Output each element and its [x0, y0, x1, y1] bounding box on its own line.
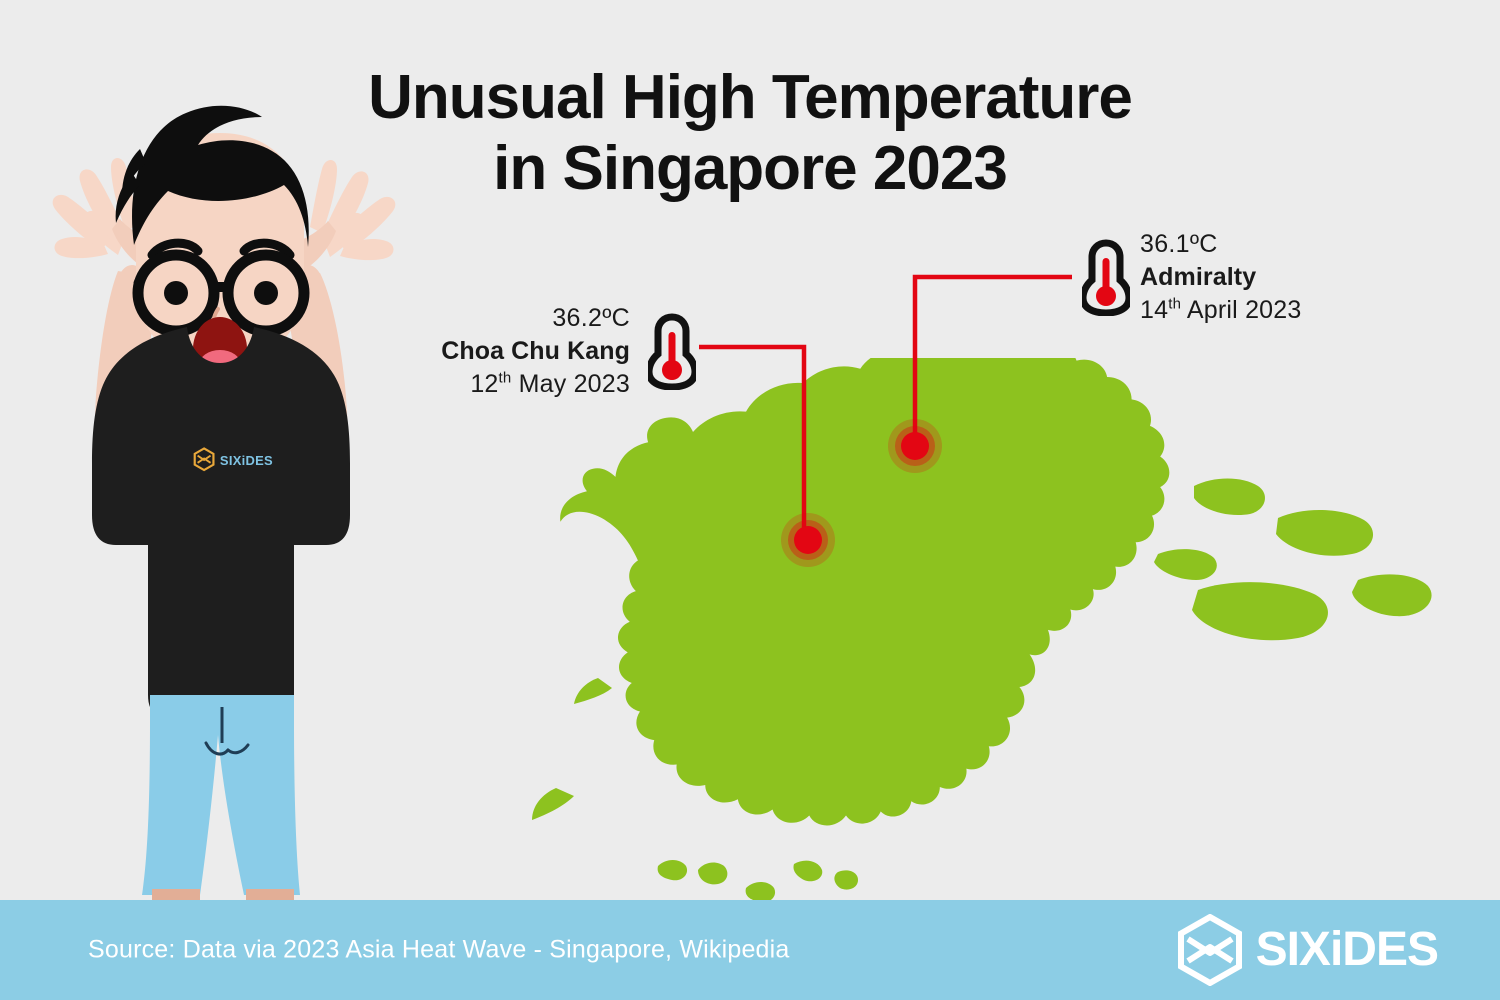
date-ordinal: th: [499, 369, 512, 386]
brand-main: SIX: [1256, 923, 1330, 976]
date-rest: April 2023: [1181, 296, 1301, 324]
date-day: 14: [1140, 296, 1168, 324]
annotation-temperature: 36.1ºC: [1140, 228, 1400, 261]
annotation-admiralty: 36.1ºC Admiralty 14th April 2023: [1140, 228, 1400, 326]
annotation-date: 14th April 2023: [1140, 294, 1400, 327]
annotation-place: Admiralty: [1140, 261, 1400, 294]
annotation-place: Choa Chu Kang: [330, 335, 630, 368]
annotation-temperature: 36.2ºC: [330, 302, 630, 335]
title-line-1: Unusual High Temperature: [368, 63, 1132, 132]
svg-text:SIXiDES: SIXiDES: [220, 453, 273, 468]
thermometer-icon: [648, 312, 696, 390]
hexagon-logo-icon: [1177, 914, 1243, 986]
brand-low: i: [1330, 923, 1342, 976]
footer-source-text: Source: Data via 2023 Asia Heat Wave - S…: [88, 936, 790, 965]
annotation-date: 12th May 2023: [330, 368, 630, 401]
infographic-canvas: Unusual High Temperature in Singapore 20…: [0, 0, 1500, 1000]
singapore-map: [498, 358, 1438, 903]
date-ordinal: th: [1168, 295, 1181, 312]
footer-brand-logo[interactable]: SIXiDES: [1177, 914, 1438, 986]
jeans: [142, 695, 300, 895]
tshirt: SIXiDES: [92, 327, 350, 723]
footer-bar: Source: Data via 2023 Asia Heat Wave - S…: [0, 900, 1500, 1000]
annotation-choa-chu-kang: 36.2ºC Choa Chu Kang 12th May 2023: [330, 302, 630, 400]
brand-end: DES: [1342, 923, 1438, 976]
map-landmass: [532, 358, 1432, 902]
thermometer-icon: [1082, 238, 1130, 316]
brand-wordmark: SIXiDES: [1256, 926, 1438, 974]
date-rest: May 2023: [511, 370, 630, 398]
character-illustration: SIXiDES: [0, 95, 450, 910]
date-day: 12: [470, 370, 498, 398]
